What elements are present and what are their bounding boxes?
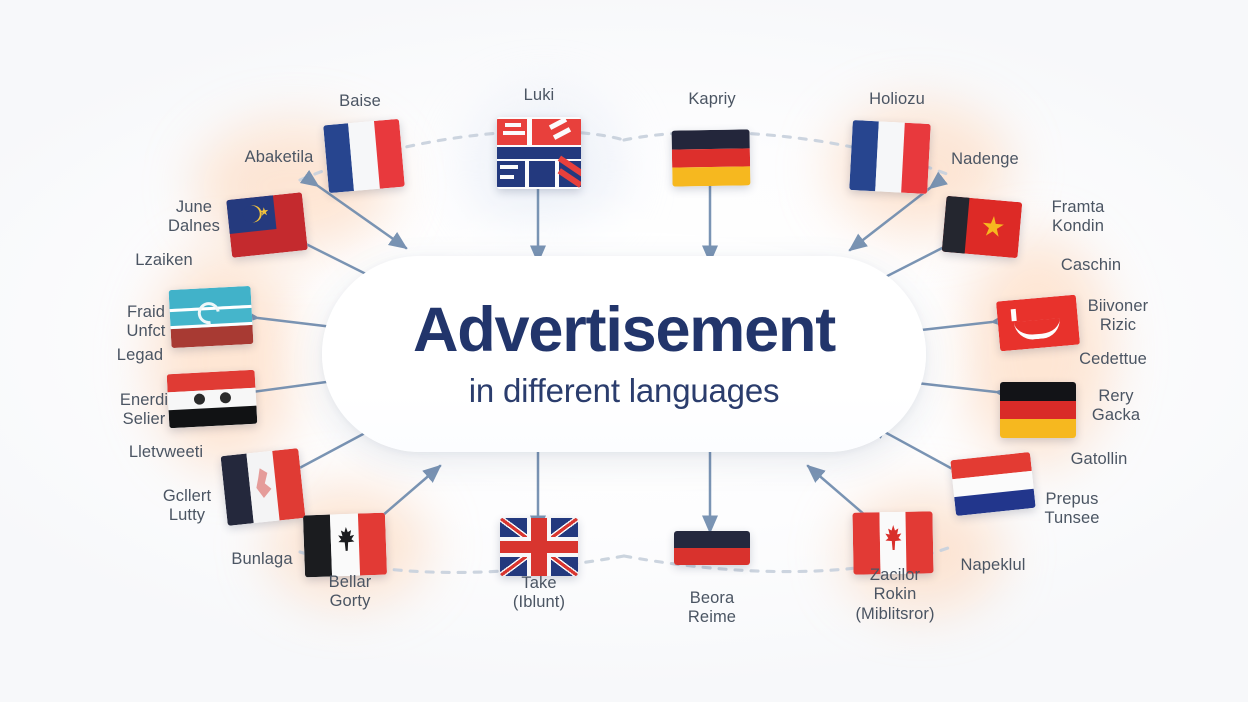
node-label-holiozu: Holiozu: [842, 90, 952, 109]
page-title: Advertisement: [413, 298, 835, 362]
flag-union-jack-take: [500, 518, 578, 576]
flag-uk-glitch-luki: [497, 117, 581, 189]
node-label-enerdi: Enerdi Selier: [92, 391, 196, 430]
node-label-kapriy: Kapriy: [660, 90, 764, 109]
flag-vietnam-framta: [942, 196, 1023, 258]
node-label-june: June Dalnes: [140, 198, 248, 237]
node-label-biivoner: Biivoner Rizic: [1068, 297, 1168, 336]
node-label-framta: Framta Kondin: [1026, 198, 1130, 237]
node-label-abaketila: Abaketila: [216, 148, 342, 167]
node-label-rery: Rery Gacka: [1068, 387, 1164, 426]
node-label-bunlaga: Bunlaga: [206, 550, 318, 569]
node-label-prepus: Prepus Tunsee: [1022, 490, 1122, 529]
node-label-lzaiken: Lzaiken: [110, 251, 218, 270]
node-label-legad: Legad: [90, 346, 190, 365]
infographic-canvas: Baise Abaketila June Dalnes Lzaiken Frai…: [0, 0, 1248, 702]
page-subtitle: in different languages: [469, 372, 780, 410]
node-label-cedettue: Cedettue: [1058, 350, 1168, 369]
flag-france-holiozu: [849, 120, 931, 194]
node-label-fraid: Fraid Unfct: [96, 303, 196, 342]
node-label-lletvweeti: Lletvweeti: [104, 443, 228, 462]
node-label-zacilor: Zacilor Rokin (Miblitsror): [838, 566, 952, 624]
node-label-gatollin: Gatollin: [1044, 450, 1154, 469]
node-label-beora: Beora Reime: [660, 589, 764, 628]
node-label-nadenge: Nadenge: [930, 150, 1040, 169]
flag-germany-rery: [1000, 382, 1076, 438]
node-label-take: Take (Iblunt): [488, 574, 590, 613]
node-label-napeklul: Napeklul: [938, 556, 1048, 575]
flag-germany-kapriy: [672, 129, 751, 186]
node-label-caschin: Caschin: [1038, 256, 1144, 275]
center-title-block: Advertisement in different languages: [322, 256, 926, 452]
node-label-baise: Baise: [298, 92, 422, 111]
node-label-gcllert: Gcllert Lutty: [136, 487, 238, 526]
flag-navy-red-beora: [674, 531, 750, 565]
node-label-luki: Luki: [488, 86, 590, 105]
node-label-bellar: Bellar Gorty: [298, 573, 402, 612]
